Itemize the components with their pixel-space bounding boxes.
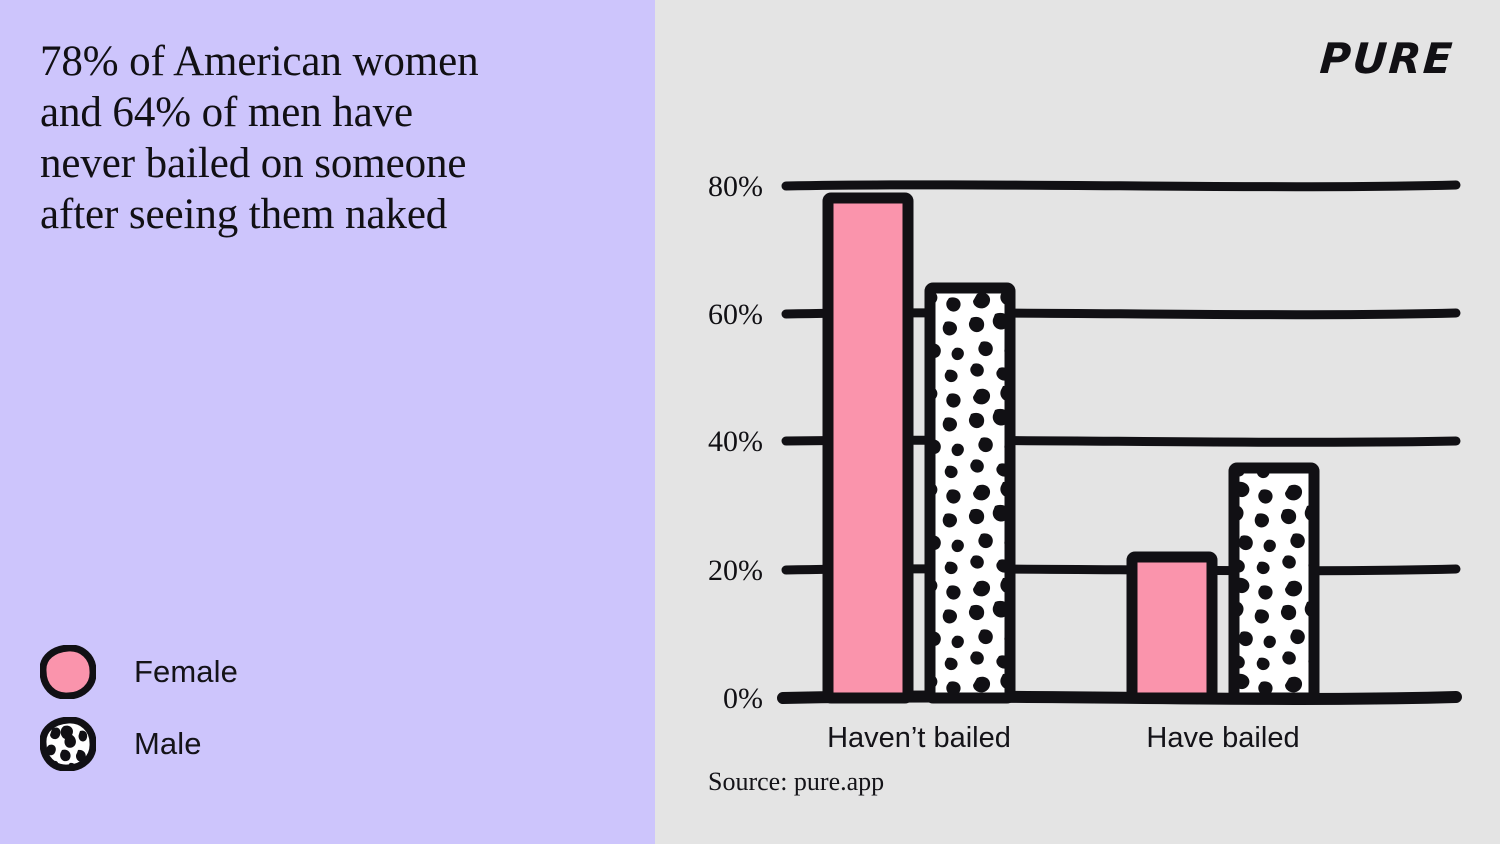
legend-item-female[interactable]: Female [40, 636, 238, 708]
headline-line-3: never bailed on someone [40, 138, 620, 189]
y-tick-60: 60% [671, 298, 763, 332]
pink-circle-icon [40, 645, 96, 699]
x-label-havent-bailed: Haven’t bailed [799, 722, 1039, 755]
infographic-root: 78% of American women and 64% of men hav… [0, 0, 1500, 844]
chart-legend: Female [40, 636, 238, 780]
headline-line-4: after seeing them naked [40, 189, 620, 240]
y-tick-20: 20% [671, 554, 763, 588]
chart-canvas [655, 0, 1500, 844]
bar-chart: 80% 60% 40% 20% 0% Haven’t bailed Have b… [655, 0, 1500, 844]
speckled-circle-icon [40, 717, 96, 771]
y-tick-40: 40% [671, 425, 763, 459]
legend-item-male[interactable]: Male [40, 708, 238, 780]
legend-label-male: Male [134, 726, 202, 762]
legend-label-female: Female [134, 654, 238, 690]
page-title: 78% of American women and 64% of men hav… [40, 36, 620, 240]
right-panel: PURE [655, 0, 1500, 844]
left-panel: 78% of American women and 64% of men hav… [0, 0, 655, 844]
source-note: Source: pure.app [708, 767, 884, 797]
headline-line-2: and 64% of men have [40, 87, 620, 138]
y-tick-0: 0% [671, 682, 763, 716]
y-tick-80: 80% [671, 170, 763, 204]
headline-line-1: 78% of American women [40, 36, 620, 87]
x-label-have-bailed: Have bailed [1103, 722, 1343, 755]
